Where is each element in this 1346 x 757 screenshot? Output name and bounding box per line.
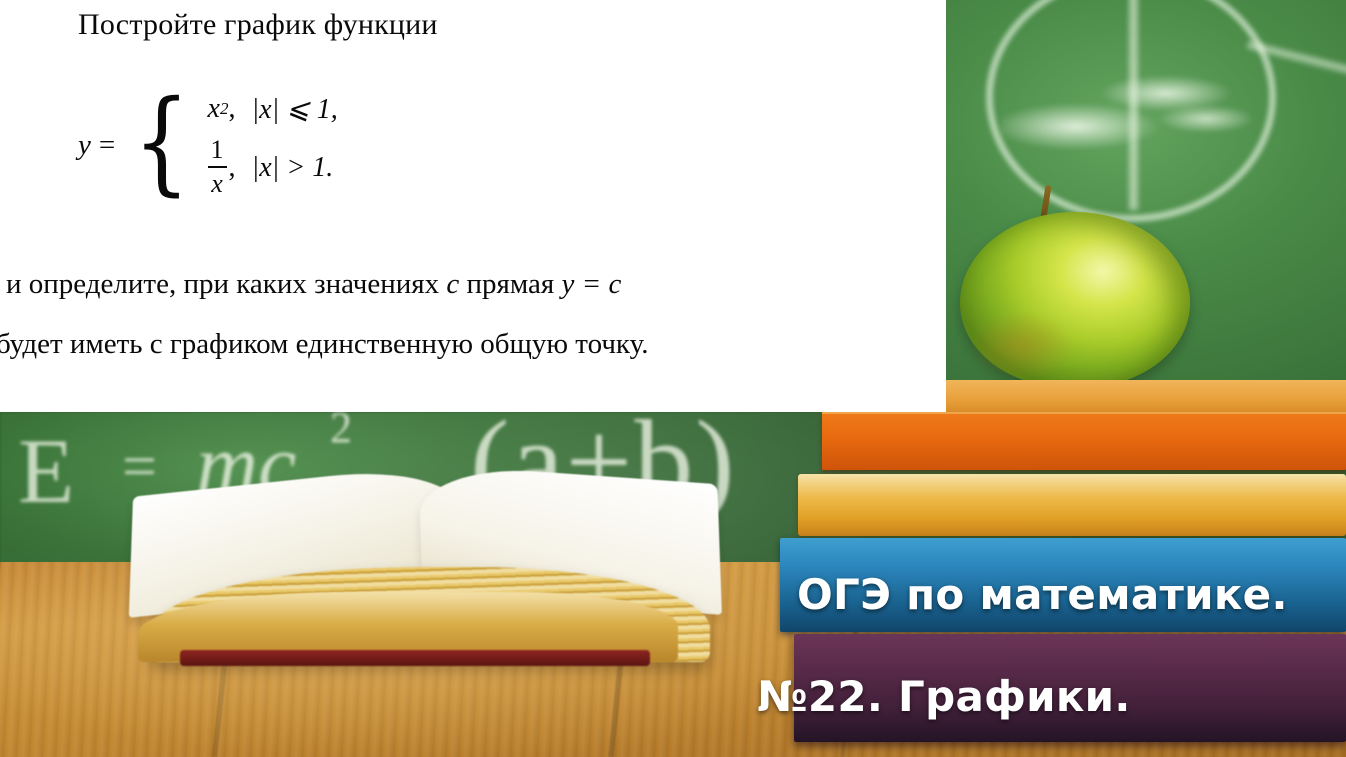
line1-equation: y = c (562, 268, 622, 300)
slide-canvas: E = mc 2 (a+b) Постройте граф (0, 0, 1346, 757)
case2-numerator: 1 (211, 137, 224, 163)
problem-statement: Постройте график функции y = { x2, |x| ⩽… (0, 0, 946, 412)
formula-cases: x2, |x| ⩽ 1, 1 x , |x| > 1. (208, 92, 338, 198)
caption-task-number: №22. Графики. (757, 672, 1131, 721)
problem-title: Постройте график функции (78, 8, 438, 41)
case2-comma: , (229, 152, 236, 184)
formula-case-2: 1 x , |x| > 1. (208, 138, 338, 198)
chalk-superscript-two: 2 (330, 412, 352, 453)
line1-variable-c: c (446, 268, 459, 300)
chalk-letter-e: E (18, 418, 80, 524)
case2-condition: |x| > 1. (252, 152, 334, 184)
case2-denominator: x (211, 171, 223, 197)
line1-text-b: прямая (459, 268, 561, 300)
line1-text-a: и определите, при каких значениях (6, 268, 446, 300)
case2-fraction-bar (208, 166, 227, 168)
formula-case-1: x2, |x| ⩽ 1, (208, 92, 338, 126)
piecewise-formula: y = { x2, |x| ⩽ 1, 1 x , |x| (78, 92, 338, 198)
apple-photo (946, 0, 1346, 412)
problem-text-line-1: и определите, при каких значениях c прям… (6, 268, 621, 301)
orange-book (822, 412, 1346, 470)
gold-book (798, 474, 1346, 536)
formula-equals-sign: = (99, 129, 115, 162)
formula-lhs-variable: y (78, 129, 91, 162)
case1-exponent: 2 (220, 99, 229, 119)
chalk-scribble-mark (1001, 60, 1251, 155)
green-apple (960, 212, 1190, 387)
orange-book-top (946, 380, 1346, 412)
case2-fraction: 1 x (208, 137, 227, 197)
case1-comma: , (228, 93, 235, 125)
case1-base: x (208, 93, 220, 125)
case1-condition: |x| ⩽ 1, (251, 92, 337, 126)
open-book-spine (180, 650, 650, 666)
formula-brace: { (133, 99, 190, 186)
caption-subject: ОГЭ по математике. (797, 570, 1288, 619)
problem-text-line-2: будет иметь с графиком единственную общу… (0, 328, 648, 361)
open-book (120, 472, 720, 687)
